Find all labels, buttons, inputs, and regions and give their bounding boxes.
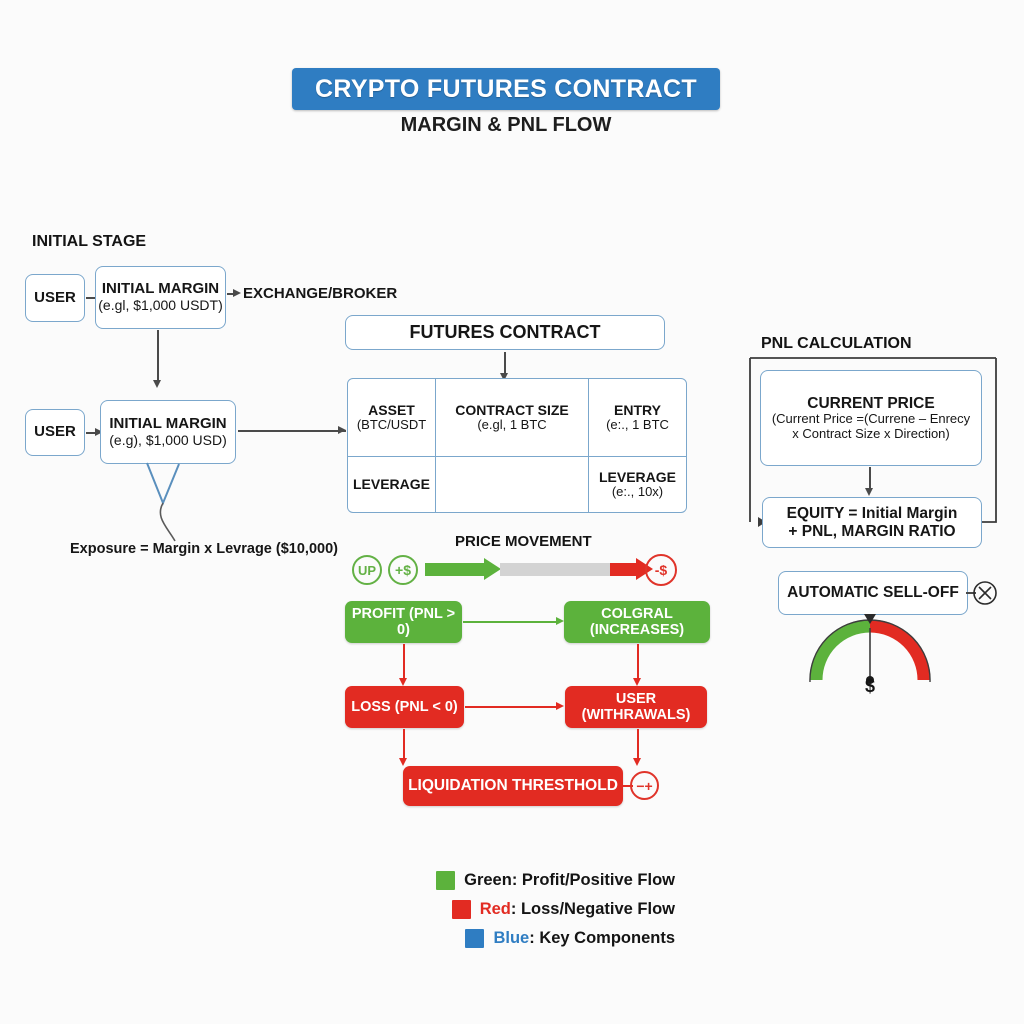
table-cell-asset-title: ASSET [368, 402, 415, 418]
initial-margin-box-2-line2: (e.g), $1,000 USD) [109, 433, 227, 449]
legend-swatch-red [452, 900, 471, 919]
arrowhead-loss-liquidation [399, 758, 407, 766]
legend-key-red: Red [480, 900, 511, 918]
badge-minus-dollar-label: -$ [655, 562, 667, 578]
flow-box-collateral-label: COLGRAL (INCREASES) [564, 606, 710, 638]
current-price-line2: x Contract Size x Direction) [792, 427, 950, 442]
legend-text-red: : Loss/Negative Flow [511, 900, 675, 918]
price-arrow-green-head [484, 558, 501, 580]
table-cell-contract-size-value: (e.gl, 1 BTC [477, 418, 546, 433]
initial-stage-label: INITIAL STAGE [32, 233, 146, 251]
legend-key-green: Green [464, 871, 512, 889]
arrowhead-collateral-withdrawals [633, 678, 641, 686]
badge-up-label: UP [358, 563, 376, 578]
futures-contract-heading: FUTURES CONTRACT [410, 322, 601, 342]
badge-up: UP [352, 555, 382, 585]
gauge-dollar-label: $ [805, 676, 935, 697]
pnl-calculation-label: PNL CALCULATION [761, 335, 912, 353]
liquidation-badge-icon: −+ [630, 771, 659, 800]
table-cell-leverage-left-title: LEVERAGE [353, 476, 430, 492]
flow-box-profit-label: PROFIT (PNL > 0) [345, 606, 462, 638]
table-cell-leverage-right-title: LEVERAGE [599, 469, 676, 485]
badge-minus-dollar: -$ [645, 554, 677, 586]
legend-label-green: Green: Profit/Positive Flow [464, 871, 675, 890]
legend-swatch-green [436, 871, 455, 890]
legend-item-green: Green: Profit/Positive Flow [330, 866, 675, 895]
page-title: CRYPTO FUTURES CONTRACT [315, 75, 697, 104]
flow-box-liquidation-threshold-label: LIQUIDATION THRESTHOLD [408, 777, 618, 795]
legend-swatch-blue [465, 929, 484, 948]
legend: Green: Profit/Positive Flow Red: Loss/Ne… [330, 866, 675, 953]
table-cell-empty [436, 457, 589, 512]
legend-item-blue: Blue: Key Components [330, 924, 675, 953]
flow-box-user-withdrawals-label: USER (WITHRAWALS) [565, 691, 707, 723]
user-box-2-label: USER [34, 424, 76, 441]
arrowhead-withdrawals-liquidation [633, 758, 641, 766]
equity-line2: + PNL, MARGIN RATIO [788, 523, 955, 540]
user-box-2[interactable]: USER [25, 409, 85, 456]
current-price-line1: (Current Price =(Currene – Enrecy [772, 412, 970, 427]
legend-label-blue: Blue: Key Components [493, 929, 675, 948]
arrowhead-current-price-equity [865, 488, 873, 496]
page-title-banner: CRYPTO FUTURES CONTRACT [292, 68, 720, 110]
legend-text-blue: : Key Components [529, 929, 675, 947]
table-cell-leverage-right: LEVERAGE (e:., 10x) [589, 457, 686, 512]
connector-collateral-withdrawals [637, 644, 639, 682]
exposure-note: Exposure = Margin x Levrage ($10,000) [70, 541, 338, 557]
arrowhead-profit-loss [399, 678, 407, 686]
flow-box-collateral[interactable]: COLGRAL (INCREASES) [564, 601, 710, 643]
page-subtitle: MARGIN & PNL FLOW [292, 114, 720, 137]
price-bar-gray [500, 563, 610, 576]
connector-profit-loss [403, 644, 405, 682]
equity-box[interactable]: EQUITY = Initial Margin + PNL, MARGIN RA… [762, 497, 982, 548]
legend-text-green: : Profit/Positive Flow [512, 871, 675, 889]
initial-margin-box-2-line1: INITIAL MARGIN [109, 416, 226, 433]
arrowhead-margin1-margin2 [153, 380, 161, 388]
table-cell-leverage-right-value: (e:., 10x) [612, 485, 663, 500]
table-cell-entry-value: (e:., 1 BTC [606, 418, 669, 433]
futures-contract-table: ASSET (BTC/USDT CONTRACT SIZE (e.gl, 1 B… [347, 378, 687, 513]
user-box-1[interactable]: USER [25, 274, 85, 322]
exposure-callout-leader [95, 455, 325, 555]
flow-box-profit[interactable]: PROFIT (PNL > 0) [345, 601, 462, 643]
equity-line1: EQUITY = Initial Margin [787, 505, 958, 522]
badge-plus-dollar: +$ [388, 555, 418, 585]
connector-margin2-table [238, 430, 346, 432]
arrowhead-margin2-table [338, 426, 346, 434]
price-arrow-red-shaft [610, 563, 638, 576]
table-cell-contract-size: CONTRACT SIZE (e.gl, 1 BTC [436, 379, 589, 457]
legend-label-red: Red: Loss/Negative Flow [480, 900, 675, 919]
flow-box-loss[interactable]: LOSS (PNL < 0) [345, 686, 464, 728]
price-arrow-green-shaft [425, 563, 485, 576]
table-cell-asset: ASSET (BTC/USDT [348, 379, 436, 457]
arrowhead-loss-withdrawals [556, 702, 564, 710]
arrowhead-margin1-exchange [233, 289, 241, 297]
user-box-1-label: USER [34, 290, 76, 307]
futures-contract-header-box[interactable]: FUTURES CONTRACT [345, 315, 665, 350]
connector-loss-withdrawals [465, 706, 558, 708]
initial-margin-box-1-line2: (e.gl, $1,000 USDT) [98, 298, 223, 314]
exchange-broker-label: EXCHANGE/BROKER [243, 285, 397, 302]
table-cell-asset-value: (BTC/USDT [357, 418, 426, 433]
close-circle-icon[interactable] [972, 580, 998, 606]
flow-box-loss-label: LOSS (PNL < 0) [351, 699, 458, 715]
liquidation-badge-label: −+ [636, 778, 652, 794]
arrowhead-profit-collateral [556, 617, 564, 625]
initial-margin-box-1-line1: INITIAL MARGIN [102, 281, 219, 298]
price-movement-label: PRICE MOVEMENT [455, 533, 592, 550]
flow-box-liquidation-threshold[interactable]: LIQUIDATION THRESTHOLD [403, 766, 623, 806]
table-cell-entry: ENTRY (e:., 1 BTC [589, 379, 686, 457]
legend-item-red: Red: Loss/Negative Flow [330, 895, 675, 924]
flow-box-user-withdrawals[interactable]: USER (WITHRAWALS) [565, 686, 707, 728]
connector-profit-collateral [463, 621, 558, 623]
automatic-selloff-box[interactable]: AUTOMATIC SELL-OFF [778, 571, 968, 615]
automatic-selloff-label: AUTOMATIC SELL-OFF [787, 584, 959, 601]
table-cell-leverage-left: LEVERAGE [348, 457, 436, 512]
current-price-box[interactable]: CURRENT PRICE (Current Price =(Currene –… [760, 370, 982, 466]
initial-margin-box-1[interactable]: INITIAL MARGIN (e.gl, $1,000 USDT) [95, 266, 226, 329]
table-cell-contract-size-title: CONTRACT SIZE [455, 402, 569, 418]
current-price-title: CURRENT PRICE [807, 395, 934, 412]
connector-margin1-margin2 [157, 330, 159, 382]
table-cell-entry-title: ENTRY [614, 402, 661, 418]
badge-plus-dollar-label: +$ [395, 562, 411, 578]
legend-key-blue: Blue [493, 929, 529, 947]
